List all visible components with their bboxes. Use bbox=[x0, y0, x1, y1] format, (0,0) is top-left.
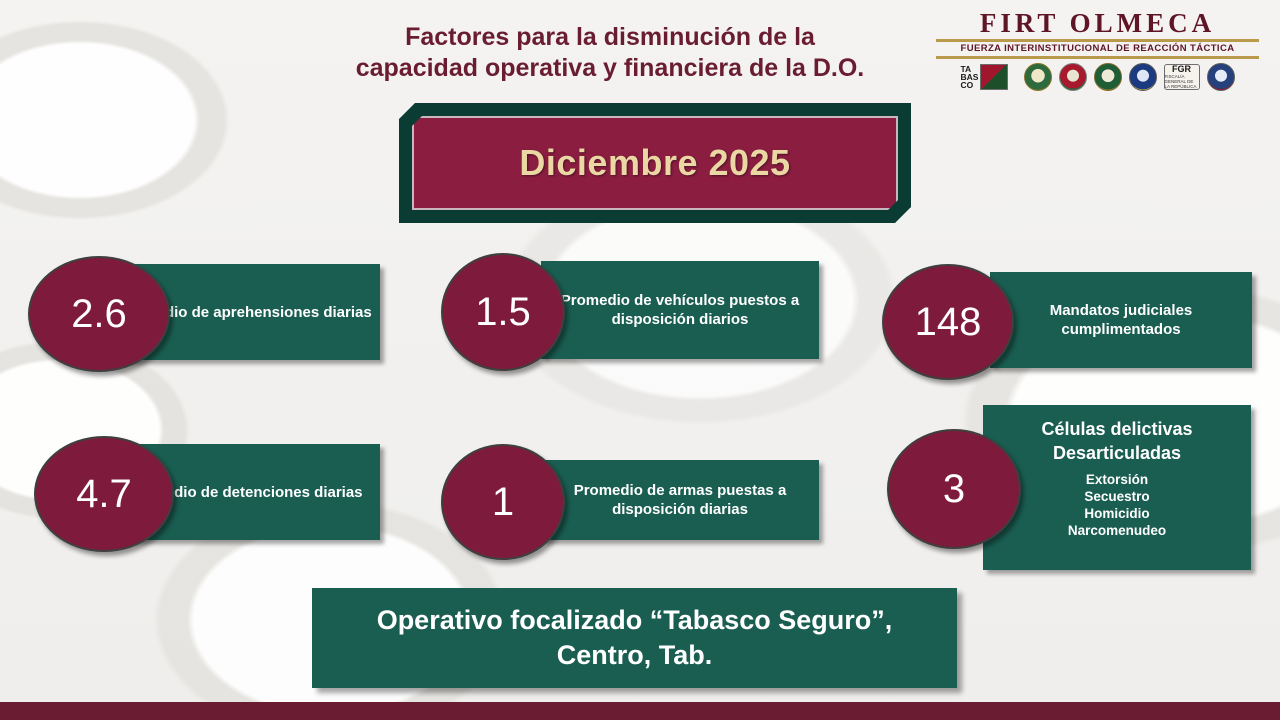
stat-label-vehiculos: Promedio de vehículos puestos a disposic… bbox=[541, 261, 819, 359]
stat-card-detenciones: Promedio de detenciones diarias 4.7 bbox=[14, 444, 394, 556]
month-banner-label: Diciembre 2025 bbox=[519, 142, 790, 184]
page-title: Factores para la disminución de la capac… bbox=[250, 22, 970, 84]
footer-line-1: Operativo focalizado “Tabasco Seguro”, bbox=[377, 603, 893, 638]
stat-value-mandatos: 148 bbox=[882, 264, 1014, 380]
celulas-crime-list: Extorsión Secuestro Homicidio Narcomenud… bbox=[1068, 471, 1166, 539]
page-title-line-2: capacidad operativa y financiera de la D… bbox=[250, 53, 970, 84]
stat-card-celulas: Células delictivas Desarticuladas Extors… bbox=[887, 405, 1277, 571]
stat-card-vehiculos: Promedio de vehículos puestos a disposic… bbox=[441, 261, 841, 375]
month-banner-inner: Diciembre 2025 bbox=[412, 116, 898, 210]
fgr-title: FGR bbox=[1172, 65, 1191, 74]
footer-line-2: Centro, Tab. bbox=[377, 638, 893, 673]
sedena-seal-icon bbox=[1024, 63, 1052, 91]
stat-value-armas: 1 bbox=[441, 444, 565, 560]
celulas-heading: Células delictivas Desarticuladas bbox=[1041, 417, 1192, 465]
stat-value-celulas: 3 bbox=[887, 429, 1021, 549]
logo-name: FIRT OLMECA bbox=[930, 8, 1265, 38]
policia-estatal-seal-icon bbox=[1129, 63, 1157, 91]
tabasco-emblem-text: TA BAS CO bbox=[961, 65, 979, 89]
fgr-subtitle: FISCALÍA GENERAL DE LA REPÚBLICA bbox=[1165, 74, 1199, 89]
logo-emblem-row: TA BAS CO FGR FISCALÍA GENERAL DE LA REP… bbox=[930, 63, 1265, 91]
tabasco-text-line-3: CO bbox=[961, 81, 979, 89]
logo-rule-top bbox=[936, 39, 1259, 42]
footer-banner: Operativo focalizado “Tabasco Seguro”, C… bbox=[312, 588, 957, 688]
list-item: Narcomenudeo bbox=[1068, 522, 1166, 539]
guardia-nacional-seal-icon bbox=[1094, 63, 1122, 91]
stat-value-vehiculos: 1.5 bbox=[441, 253, 565, 371]
list-item: Extorsión bbox=[1068, 471, 1166, 488]
stat-label-mandatos: Mandatos judiciales cumplimentados bbox=[990, 272, 1252, 368]
semar-seal-icon bbox=[1059, 63, 1087, 91]
stat-label-armas: Promedio de armas puestas a disposición … bbox=[541, 460, 819, 540]
tabasco-shield-icon bbox=[980, 64, 1008, 90]
stat-card-mandatos: Mandatos judiciales cumplimentados 148 bbox=[882, 272, 1272, 384]
firt-olmeca-logo: FIRT OLMECA FUERZA INTERINSTITUCIONAL DE… bbox=[930, 8, 1265, 100]
stat-label-celulas: Células delictivas Desarticuladas Extors… bbox=[983, 405, 1251, 570]
stat-value-aprehensiones: 2.6 bbox=[28, 256, 170, 372]
tabasco-emblem: TA BAS CO bbox=[961, 64, 1017, 90]
list-item: Secuestro bbox=[1068, 488, 1166, 505]
logo-rule-bottom bbox=[936, 56, 1259, 59]
page-title-line-1: Factores para la disminución de la bbox=[250, 22, 970, 53]
stat-card-aprehensiones: Promedio de aprehensiones diarias 2.6 bbox=[14, 264, 394, 376]
celulas-heading-line-1: Células delictivas bbox=[1041, 417, 1192, 441]
month-banner: Diciembre 2025 bbox=[399, 103, 911, 223]
stat-card-armas: Promedio de armas puestas a disposición … bbox=[441, 460, 841, 572]
stat-value-detenciones: 4.7 bbox=[34, 436, 174, 552]
fgr-seal-icon: FGR FISCALÍA GENERAL DE LA REPÚBLICA bbox=[1164, 64, 1200, 90]
list-item: Homicidio bbox=[1068, 505, 1166, 522]
fiscalia-estatal-seal-icon bbox=[1207, 63, 1235, 91]
celulas-heading-line-2: Desarticuladas bbox=[1041, 441, 1192, 465]
bottom-accent-bar bbox=[0, 702, 1280, 720]
logo-subtitle: FUERZA INTERINSTITUCIONAL DE REACCIÓN TÁ… bbox=[930, 43, 1265, 55]
